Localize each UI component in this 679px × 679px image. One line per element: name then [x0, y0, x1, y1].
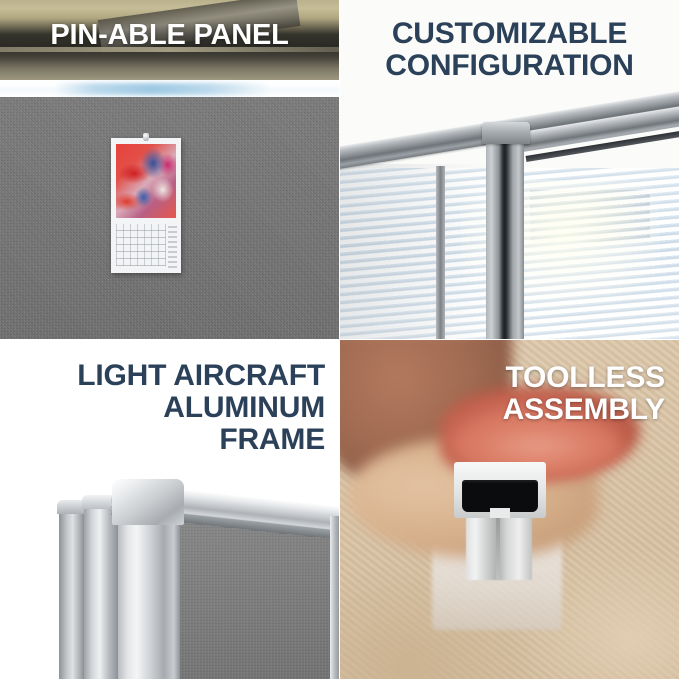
ceiling-beam: [0, 47, 339, 52]
fluorescent-light-strip: [0, 80, 339, 98]
feature-panel-light-aircraft-aluminum-frame: LIGHT AIRCRAFT ALUMINUM FRAME: [0, 340, 339, 679]
calendar-artwork: [116, 144, 176, 218]
pinned-calendar: [111, 138, 181, 273]
ceiling-photo: [0, 0, 339, 82]
feature-panel-pin-able-panel: PIN-ABLE PANEL: [0, 0, 339, 339]
aluminum-corner-joint: [112, 479, 184, 525]
aluminum-post-left: [59, 510, 85, 679]
post-connector-notch: [490, 508, 510, 518]
push-pin-icon: [143, 133, 149, 141]
fabric-panel-insert: [178, 518, 339, 679]
calendar-side-text: [168, 224, 177, 268]
feature-grid: PIN-ABLE PANEL CUSTOMIZABLE CONFIGURATIO…: [0, 0, 679, 679]
post-inner-seam: [496, 518, 500, 580]
aluminum-post-middle: [84, 502, 118, 679]
left-glass-panel: [340, 164, 488, 339]
corner-post-cap: [482, 122, 530, 144]
left-mullion: [436, 166, 445, 339]
corner-post: [486, 132, 524, 339]
feature-panel-customizable-configuration: CUSTOMIZABLE CONFIGURATION: [340, 0, 679, 339]
calendar-date-grid: [116, 224, 166, 266]
feature-panel-toolless-assembly: TOOLLESS ASSEMBLY: [340, 340, 679, 679]
aluminum-post-main: [118, 518, 180, 679]
panel-right-edge: [330, 516, 339, 679]
